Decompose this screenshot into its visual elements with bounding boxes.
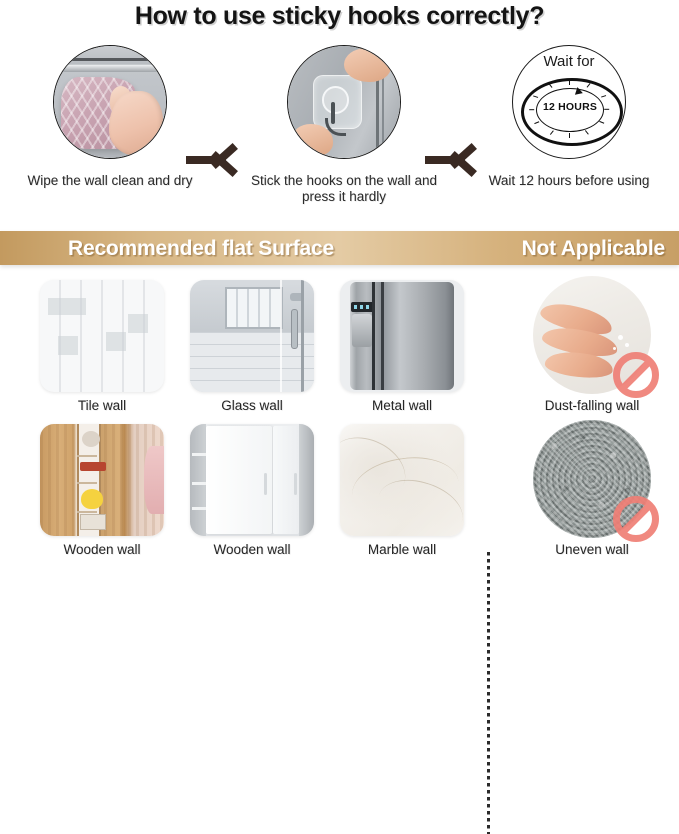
hand (109, 91, 163, 156)
clock-tick (529, 109, 534, 110)
surface-label-uneven-wall: Uneven wall (555, 542, 629, 557)
surface-cell-metal-wall: Metal wall (340, 280, 464, 392)
surface-label-glass-wall: Glass wall (221, 398, 283, 413)
clock-tick (604, 109, 609, 110)
tile-wall-swatch (40, 280, 164, 392)
door-gap (381, 282, 384, 390)
finger-upper (344, 48, 391, 82)
storage-box (80, 514, 106, 530)
page-title: How to use sticky hooks correctly? (0, 2, 679, 31)
prohibited-sign (613, 352, 659, 398)
cabinet-side-left (190, 424, 206, 536)
shelf-line (77, 482, 97, 484)
clock-top-text: Wait for (513, 53, 625, 70)
window (225, 287, 284, 329)
tile-shade (106, 332, 126, 351)
arrow-head (460, 145, 485, 175)
control-panel (351, 302, 375, 312)
glass-door-frame (301, 280, 304, 392)
clock-center-text: 12 HOURS (513, 101, 627, 113)
step-2-caption: Stick the hooks on the wall and press it… (239, 173, 449, 205)
surface-label-wooden-wall-white: Wooden wall (213, 542, 290, 557)
shelf-line (77, 511, 97, 513)
arrow-head (221, 145, 246, 175)
tile-shade (128, 314, 148, 333)
surface-cell-glass-wall: Glass wall (190, 280, 314, 392)
step-1-caption: Wipe the wall clean and dry (27, 173, 192, 189)
clock-illustration: Wait for 12 HOURS (512, 45, 626, 159)
steps-section: Wipe the wall clean and dry Stick the ho… (0, 45, 679, 215)
hook-disc (322, 86, 350, 114)
surface-label-metal-wall: Metal wall (372, 398, 432, 413)
pink-fabric (144, 446, 164, 513)
surface-cell-marble-wall: Marble wall (340, 424, 464, 536)
toy-train (80, 462, 106, 471)
wall-rail (53, 65, 167, 72)
niche-shelf (192, 507, 206, 510)
banner-not-applicable-label: Not Applicable (522, 237, 665, 261)
prohibited-sign (613, 496, 659, 542)
step-2-image (287, 45, 401, 159)
door-gap (372, 282, 375, 390)
glass-wall-swatch (190, 280, 314, 392)
cabinet-door-left (206, 426, 272, 534)
water-dispenser (352, 314, 372, 348)
niche-shelf (192, 453, 206, 456)
tile-shade (48, 298, 86, 315)
toy-duck (81, 489, 103, 509)
door-handle (294, 473, 297, 495)
metal-wall-swatch (340, 280, 464, 392)
step-1: Wipe the wall clean and dry (53, 45, 167, 159)
wooden-wall-white-swatch (190, 424, 314, 536)
right-arrow-icon (186, 143, 248, 177)
step-2: Stick the hooks on the wall and press it… (287, 45, 401, 159)
surface-label-wooden-wall-natural: Wooden wall (63, 542, 140, 557)
shower-bar (291, 309, 298, 349)
wooden-wall-natural-swatch (40, 424, 164, 536)
surface-cell-wooden-wall-white: Wooden wall (190, 424, 314, 536)
clock-tick (569, 133, 570, 138)
niche-shelf (192, 482, 206, 485)
surface-label-dust-falling-wall: Dust-falling wall (545, 398, 640, 413)
shelf-line (77, 455, 97, 457)
surface-cell-dust-falling-wall: Dust-falling wall (533, 276, 651, 394)
surface-cell-uneven-wall: Uneven wall (533, 420, 651, 538)
cabinet-side-right (299, 424, 314, 536)
hand-wiping-wall-with-cloth-photo (54, 46, 166, 158)
step-3: Wait for 12 HOURS Wait 12 hours before u… (512, 45, 626, 159)
wall-rail-dark (53, 58, 167, 61)
finger-lower (292, 124, 332, 155)
hand-pressing-transparent-hook-photo (288, 46, 400, 158)
door-handle (264, 473, 267, 495)
banner-recommended-label: Recommended flat Surface (68, 237, 334, 261)
dust-speck (618, 335, 623, 340)
surfaces-section: Tile wall Glass wall Metal wall (0, 272, 679, 572)
clock-tick (569, 80, 570, 85)
surface-label-tile-wall: Tile wall (78, 398, 126, 413)
marble-wall-swatch (340, 424, 464, 536)
toy-bear (82, 431, 100, 447)
surface-banner: Recommended flat Surface Not Applicable (0, 231, 679, 265)
step-1-image (53, 45, 167, 159)
tile-shade (58, 336, 78, 355)
step-3-caption: Wait 12 hours before using (489, 173, 650, 189)
right-arrow-icon-2 (425, 143, 487, 177)
glass-door-edge (280, 280, 282, 392)
dotted-vertical-divider (487, 552, 490, 834)
surface-cell-wooden-wall-natural: Wooden wall (40, 424, 164, 536)
surface-cell-tile-wall: Tile wall (40, 280, 164, 392)
dust-speck (625, 343, 629, 347)
surface-label-marble-wall: Marble wall (368, 542, 436, 557)
